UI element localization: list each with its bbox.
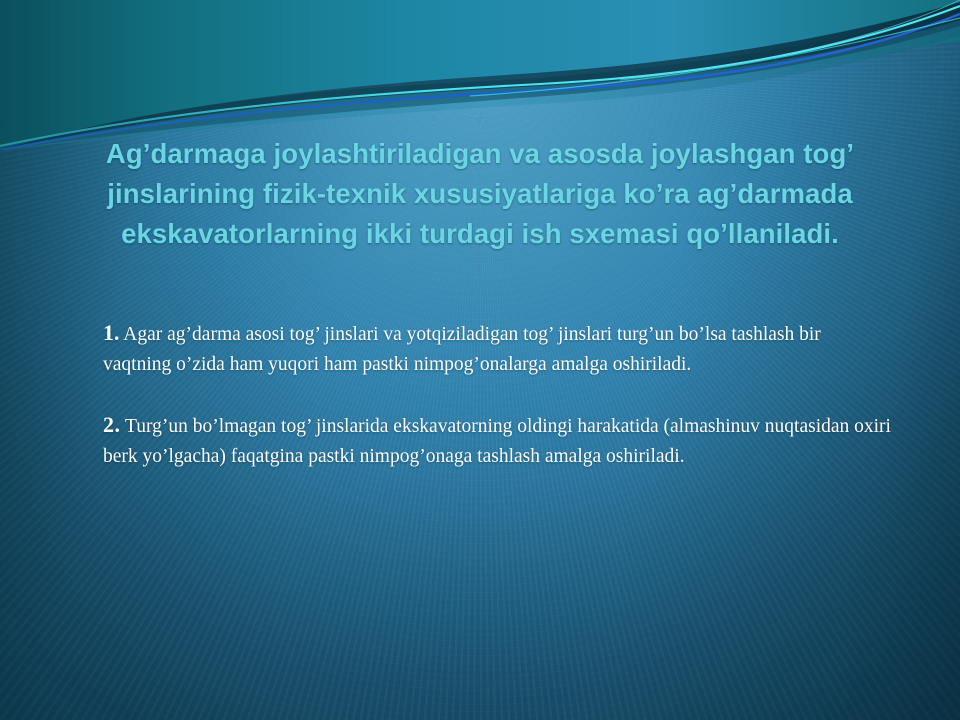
body-paragraph-1: 1. Agar ag’darma asosi tog’ jinslari va … (103, 318, 893, 380)
title-line-1: Ag’darmaga joylashtiriladigan va asosda … (26, 134, 934, 174)
body-paragraph-2: 2. Turg’un bo’lmagan tog’ jinslarida eks… (103, 410, 893, 472)
paragraph-text-1: Agar ag’darma asosi tog’ jinslari va yot… (103, 324, 821, 375)
slide-title: Ag’darmaga joylashtiriladigan va asosda … (26, 134, 934, 254)
presentation-slide: Ag’darmaga joylashtiriladigan va asosda … (0, 0, 960, 720)
slide-body: 1. Agar ag’darma asosi tog’ jinslari va … (103, 298, 893, 491)
title-line-3: ekskavatorlarning ikki turdagi ish sxema… (26, 214, 934, 254)
slide-content: Ag’darmaga joylashtiriladigan va asosda … (0, 0, 960, 720)
paragraph-number-1: 1. (103, 320, 120, 345)
paragraph-number-2: 2. (103, 412, 121, 437)
title-line-2: jinslarining fizik-texnik xususiyatlarig… (26, 174, 934, 214)
paragraph-text-2: Turg’un bo’lmagan tog’ jinslarida ekskav… (103, 416, 891, 467)
